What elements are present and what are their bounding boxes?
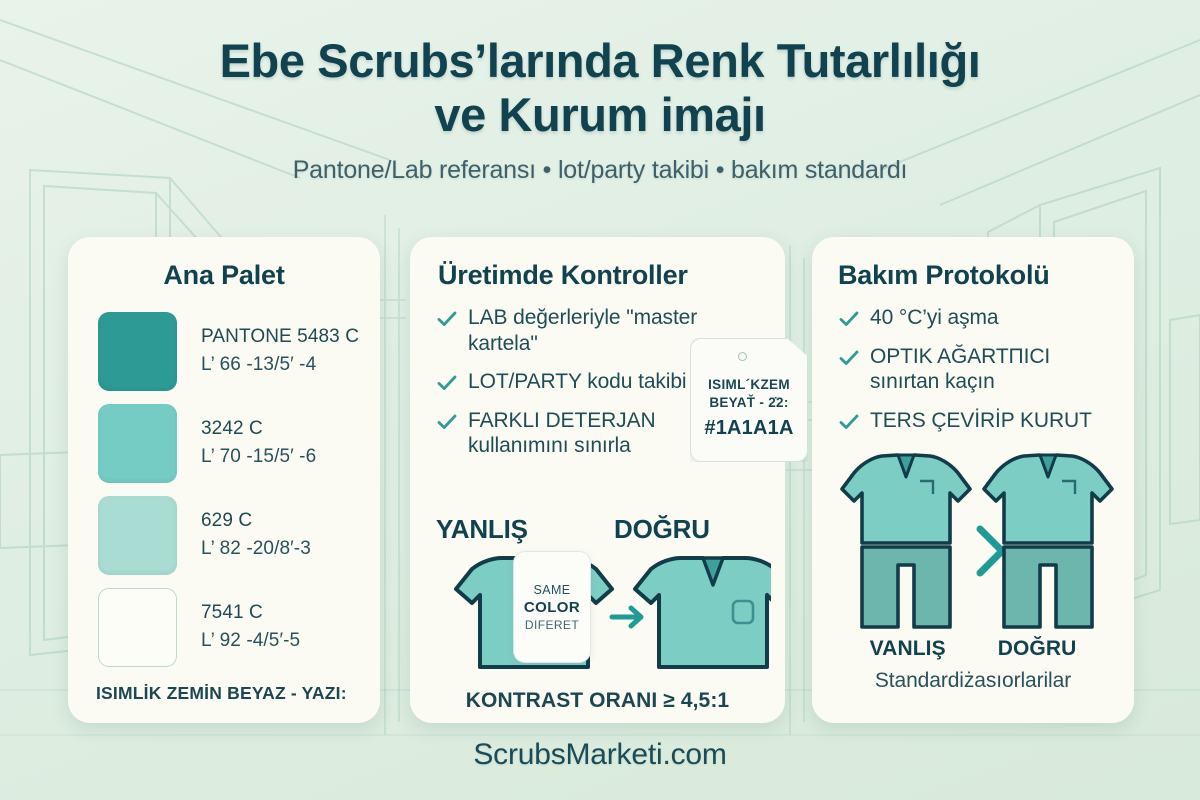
- palette-row: PANTONE 5483 C L’ 66 -13/5′ -4: [68, 305, 380, 397]
- card-uretimde-kontroller: Üretimde Kontroller LAB değerleriyle "ma…: [410, 237, 785, 723]
- scrub-set-comparison-illustration: [832, 451, 1114, 647]
- care-label-right: DOĞRU: [998, 637, 1077, 661]
- palette-color-name: PANTONE 5483 C: [201, 323, 359, 351]
- palette-list: PANTONE 5483 C L’ 66 -13/5′ -4 3242 C L’…: [68, 305, 380, 673]
- care-checklist: 40 °C’yi aşma OPTIK AĞARTΠICI sınırtan k…: [812, 291, 1134, 433]
- check-icon: [838, 308, 860, 330]
- check-icon: [436, 411, 458, 433]
- checklist-item: OPTIK AĞARTΠICI sınırtan kaçın: [838, 344, 1134, 395]
- hang-tag: ISIML´KZEM BEYAŤ - 2̇2: #1A1A1A: [690, 338, 808, 462]
- checklist-item-label: LOT/PARTY kodu takibi: [468, 369, 687, 395]
- palette-row: 7541 C L’ 92 -4/5′-5: [68, 581, 380, 673]
- palette-lab-value: L’ 92 -4/5′-5: [201, 627, 300, 655]
- page-subtitle: Pantone/Lab referansı • lot/party takibi…: [0, 156, 1200, 185]
- scrub-top-comparison-illustration: [426, 555, 771, 675]
- palette-lab-value: L’ 70 -15/5′ -6: [201, 443, 316, 471]
- note-line-2: COLOR: [524, 599, 580, 616]
- same-color-note-card: SAME COLOR DIFERET: [513, 551, 591, 663]
- palette-lab-value: L’ 66 -13/5′ -4: [201, 351, 359, 379]
- arrow-icon: [612, 608, 641, 626]
- compare-label-right: DOĞRU: [600, 514, 785, 545]
- footer-site-url: ScrubsMarketi.com: [0, 738, 1200, 772]
- care-compare-labels: VANLIŞ DOĞRU: [812, 637, 1134, 661]
- palette-color-name: 629 C: [201, 507, 311, 535]
- compare-labels: YANLIŞ DOĞRU: [410, 514, 785, 545]
- compare-label-wrong: YANLIŞ: [410, 514, 600, 545]
- hang-tag-hole-icon: [738, 352, 747, 361]
- card-ana-palet: Ana Palet PANTONE 5483 C L’ 66 -13/5′ -4…: [68, 237, 380, 723]
- card-title-bakim-protokolu: Bakım Protokolü: [812, 237, 1134, 291]
- care-label-wrong: VANLIŞ: [870, 637, 946, 661]
- note-line-3: DIFERET: [525, 618, 579, 632]
- check-icon: [838, 347, 860, 369]
- checklist-item-label: FARKLI DETERJAN kullanımını sınırla: [468, 408, 704, 459]
- check-icon: [436, 372, 458, 394]
- hang-tag-text: ISIML´KZEM BEYAŤ - 2̇2: #1A1A1A: [690, 376, 808, 440]
- palette-footnote: ISIMLİK ZEMİN BEYAZ - YAZI:: [68, 673, 380, 704]
- palette-row: 629 C L’ 82 -20/8′-3: [68, 489, 380, 581]
- palette-row: 3242 C L’ 70 -15/5′ -6: [68, 397, 380, 489]
- hang-tag-hex-value: #1A1A1A: [690, 417, 808, 440]
- color-swatch: [98, 588, 177, 667]
- card-bakim-protokolu: Bakım Protokolü 40 °C’yi aşma OPTIK AĞAR…: [812, 237, 1134, 723]
- hang-tag-line-1: ISIML´KZEM: [690, 376, 808, 394]
- page-header: Ebe Scrubs’larında Renk Tutarlılığı ve K…: [0, 34, 1200, 185]
- hang-tag-line-2: BEYAŤ - 2̇2:: [690, 394, 808, 412]
- color-swatch: [98, 496, 177, 575]
- page-title-line-1: Ebe Scrubs’larında Renk Tutarlılığı: [0, 34, 1200, 88]
- contrast-ratio-note: KONTRAST ORANI ≥ 4,5:1: [410, 689, 785, 713]
- check-icon: [436, 308, 458, 330]
- page-title-line-2: ve Kurum imajı: [0, 88, 1200, 142]
- color-swatch: [98, 312, 177, 391]
- card-title-uretimde-kontroller: Üretimde Kontroller: [410, 237, 785, 291]
- checklist-item-label: 40 °C’yi aşma: [870, 305, 998, 331]
- check-icon: [838, 411, 860, 433]
- card-title-ana-palet: Ana Palet: [68, 237, 380, 291]
- page-title: Ebe Scrubs’larında Renk Tutarlılığı ve K…: [0, 34, 1200, 141]
- checklist-item-label: LAB değerleriyle "master kartela": [468, 305, 704, 356]
- palette-color-name: 3242 C: [201, 415, 316, 443]
- checklist-item-label: OPTIK AĞARTΠICI sınırtan kaçın: [870, 344, 1122, 395]
- checklist-item: TERS ÇEVİRİP KURUT: [838, 408, 1134, 434]
- palette-color-name: 7541 C: [201, 599, 300, 627]
- chevron-right-icon: [980, 529, 1002, 573]
- checklist-item: 40 °C’yi aşma: [838, 305, 1134, 331]
- palette-lab-value: L’ 82 -20/8′-3: [201, 535, 311, 563]
- color-swatch: [98, 404, 177, 483]
- checklist-item-label: TERS ÇEVİRİP KURUT: [870, 408, 1092, 434]
- care-caption: Standardiżasıorlarilar: [812, 669, 1134, 693]
- note-line-1: SAME: [533, 583, 570, 597]
